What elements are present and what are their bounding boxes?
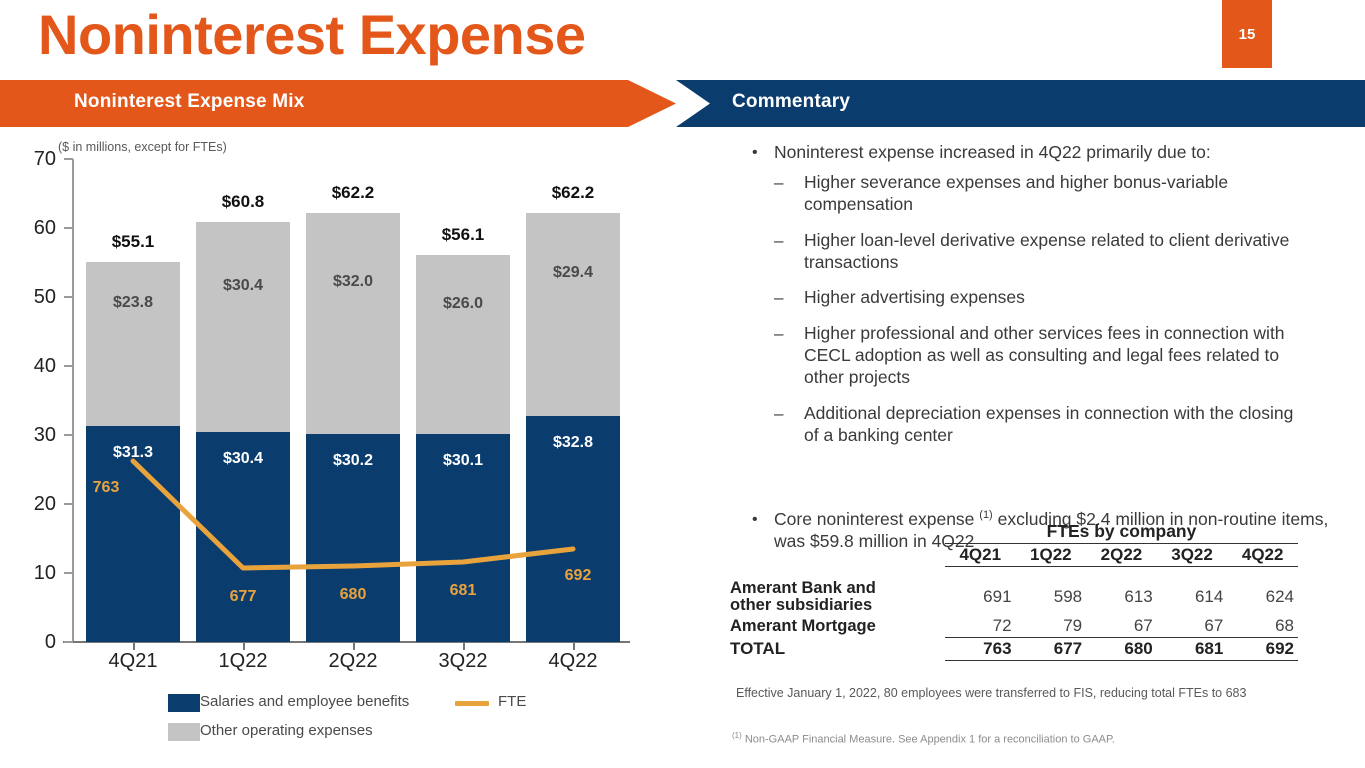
table-title-row: FTEs by company [726,520,1298,544]
table-total-row: TOTAL763677680681692 [726,638,1298,661]
footnote-text: Non-GAAP Financial Measure. See Appendix… [742,734,1115,746]
y-tick-mark [64,572,73,574]
bar-label-other-operating-expenses: $29.4 [526,264,620,282]
fte-point-label: 692 [543,567,613,585]
bar-total-label: $60.8 [196,192,290,212]
bar-label-salaries-benefits: $30.1 [416,452,510,470]
table-header-row: 4Q211Q222Q223Q224Q22 [726,544,1298,567]
table-cell: 79 [1016,615,1087,638]
footnote-non-gaap: (1) Non-GAAP Financial Measure. See Appe… [732,731,1332,746]
chart-axis-note: ($ in millions, except for FTEs) [58,140,227,154]
chart-legend: Salaries and employee benefitsOther oper… [0,690,676,760]
table-column-header: 1Q22 [1016,544,1087,567]
bar-label-other-operating-expenses: $30.4 [196,277,290,295]
bar-segment-other-operating-expenses [526,213,620,416]
legend-swatch [168,694,200,712]
table-column-header: 4Q22 [1227,544,1298,567]
fte-by-company-table: FTEs by company 4Q211Q222Q223Q224Q22 Ame… [726,520,1298,664]
bar-label-salaries-benefits: $32.8 [526,434,620,452]
table-total-cell: 680 [1086,638,1157,661]
bar-group: $32.0$30.2 [306,213,400,642]
table-cell: 624 [1227,579,1298,616]
table-double-rule [726,661,1298,664]
commentary-sub-bullet: –Additional depreciation expenses in con… [774,403,1360,447]
commentary-sub-bullet: –Higher severance expenses and higher bo… [774,172,1360,216]
table-total-cell: 681 [1157,638,1228,661]
commentary-sub-bullet: –Higher professional and other services … [774,323,1360,389]
sub-bullet-text: Higher loan-level derivative expense rel… [804,230,1304,274]
table-row-label: Amerant Bank andother subsidiaries [726,579,945,616]
x-tick-mark [463,642,465,650]
bar-segment-other-operating-expenses [86,262,180,426]
y-tick-mark [64,296,73,298]
x-axis-label: 3Q22 [408,650,518,673]
sub-bullet-marker: – [774,172,804,216]
sub-bullet-text: Higher severance expenses and higher bon… [804,172,1304,216]
table-total-label: TOTAL [726,638,945,661]
table-total-cell: 692 [1227,638,1298,661]
x-tick-mark [133,642,135,650]
footnote-fis: Effective January 1, 2022, 80 employees … [736,686,1336,700]
x-axis-label: 1Q22 [188,650,298,673]
bar-label-other-operating-expenses: $23.8 [86,294,180,312]
commentary-sub-bullet: –Higher loan-level derivative expense re… [774,230,1360,274]
bar-segment-other-operating-expenses [196,222,290,432]
sub-bullet-text: Additional depreciation expenses in conn… [804,403,1304,447]
table-cell: 613 [1086,579,1157,616]
page-title: Noninterest Expense [38,6,586,65]
table-cell: 67 [1157,615,1228,638]
y-tick-mark [64,365,73,367]
legend-label: Salaries and employee benefits [200,693,409,710]
table-cell: 691 [945,579,1016,616]
x-tick-mark [353,642,355,650]
y-tick-label: 70 [12,148,56,171]
bar-total-label: $62.2 [306,183,400,203]
section-banner-chart: Noninterest Expense Mix [0,80,676,127]
bar-segment-other-operating-expenses [306,213,400,434]
bar-total-label: $55.1 [86,232,180,252]
sub-bullet-text: Higher professional and other services f… [804,323,1304,389]
sub-bullet-marker: – [774,323,804,389]
sub-bullet-text: Higher advertising expenses [804,287,1025,309]
legend-label: Other operating expenses [200,722,373,739]
table-column-header: 3Q22 [1157,544,1228,567]
y-tick-mark [64,503,73,505]
legend-swatch [168,723,200,741]
bar-label-other-operating-expenses: $26.0 [416,295,510,313]
commentary-sub-list: –Higher severance expenses and higher bo… [700,172,1360,447]
y-tick-label: 30 [12,424,56,447]
bar-segment-other-operating-expenses [416,255,510,434]
table-column-header: 2Q22 [1086,544,1157,567]
table-row-label: Amerant Mortgage [726,615,945,638]
table-cell: 68 [1227,615,1298,638]
footnote-marker: (1) [732,731,742,740]
core-superscript: (1) [979,509,992,521]
y-tick-mark [64,434,73,436]
table-spacer-row [726,567,1298,579]
y-tick-mark [64,227,73,229]
y-tick-label: 20 [12,493,56,516]
bullet-marker: • [752,142,774,164]
fte-point-label: 677 [208,588,278,606]
table-total-cell: 677 [1016,638,1087,661]
section-banner-chart-label: Noninterest Expense Mix [74,91,305,113]
y-tick-label: 40 [12,355,56,378]
commentary-bullet: •Noninterest expense increased in 4Q22 p… [752,142,1360,164]
x-axis-label: 2Q22 [298,650,408,673]
page-number-badge: 15 [1222,0,1272,68]
y-tick-label: 10 [12,562,56,585]
y-tick-mark [64,641,73,643]
bar-group: $30.4$30.4 [196,222,290,642]
section-banner-commentary: Commentary [676,80,1365,127]
table-body: Amerant Bank andother subsidiaries691598… [726,567,1298,664]
fte-point-label: 763 [71,479,141,497]
bar-label-salaries-benefits: $30.2 [306,452,400,470]
fte-table-container: FTEs by company 4Q211Q222Q223Q224Q22 Ame… [726,520,1298,664]
table-row: Amerant Bank andother subsidiaries691598… [726,579,1298,616]
table-row: Amerant Mortgage7279676768 [726,615,1298,638]
x-axis-label: 4Q21 [78,650,188,673]
x-tick-mark [243,642,245,650]
bar-label-salaries-benefits: $30.4 [196,450,290,468]
fte-table-title: FTEs by company [945,520,1298,544]
x-axis-label: 4Q22 [518,650,628,673]
fte-point-label: 681 [428,582,498,600]
legend-label: FTE [498,693,526,710]
bar-total-label: $56.1 [416,225,510,245]
table-total-cell: 763 [945,638,1016,661]
bullet-text: Noninterest expense increased in 4Q22 pr… [774,142,1211,164]
table-cell: 67 [1086,615,1157,638]
table-cell: 72 [945,615,1016,638]
bar-label-salaries-benefits: $31.3 [86,444,180,462]
x-tick-mark [573,642,575,650]
sub-bullet-marker: – [774,403,804,447]
legend-line-marker [455,701,489,706]
y-tick-label: 50 [12,286,56,309]
commentary-sub-bullet: –Higher advertising expenses [774,287,1360,309]
y-tick-mark [64,158,73,160]
table-cell: 614 [1157,579,1228,616]
bar-total-label: $62.2 [526,183,620,203]
commentary-list: •Noninterest expense increased in 4Q22 p… [700,142,1360,554]
y-tick-label: 0 [12,631,56,654]
sub-bullet-marker: – [774,287,804,309]
sub-bullet-marker: – [774,230,804,274]
bar-group: $23.8$31.3 [86,262,180,642]
fte-point-label: 680 [318,586,388,604]
bar-label-other-operating-expenses: $32.0 [306,273,400,291]
y-axis-line [72,159,74,642]
section-banner-commentary-label: Commentary [732,91,850,113]
noninterest-expense-chart: ($ in millions, except for FTEs) 0102030… [0,130,676,768]
table-column-header: 4Q21 [945,544,1016,567]
table-cell: 598 [1016,579,1087,616]
y-tick-label: 60 [12,217,56,240]
